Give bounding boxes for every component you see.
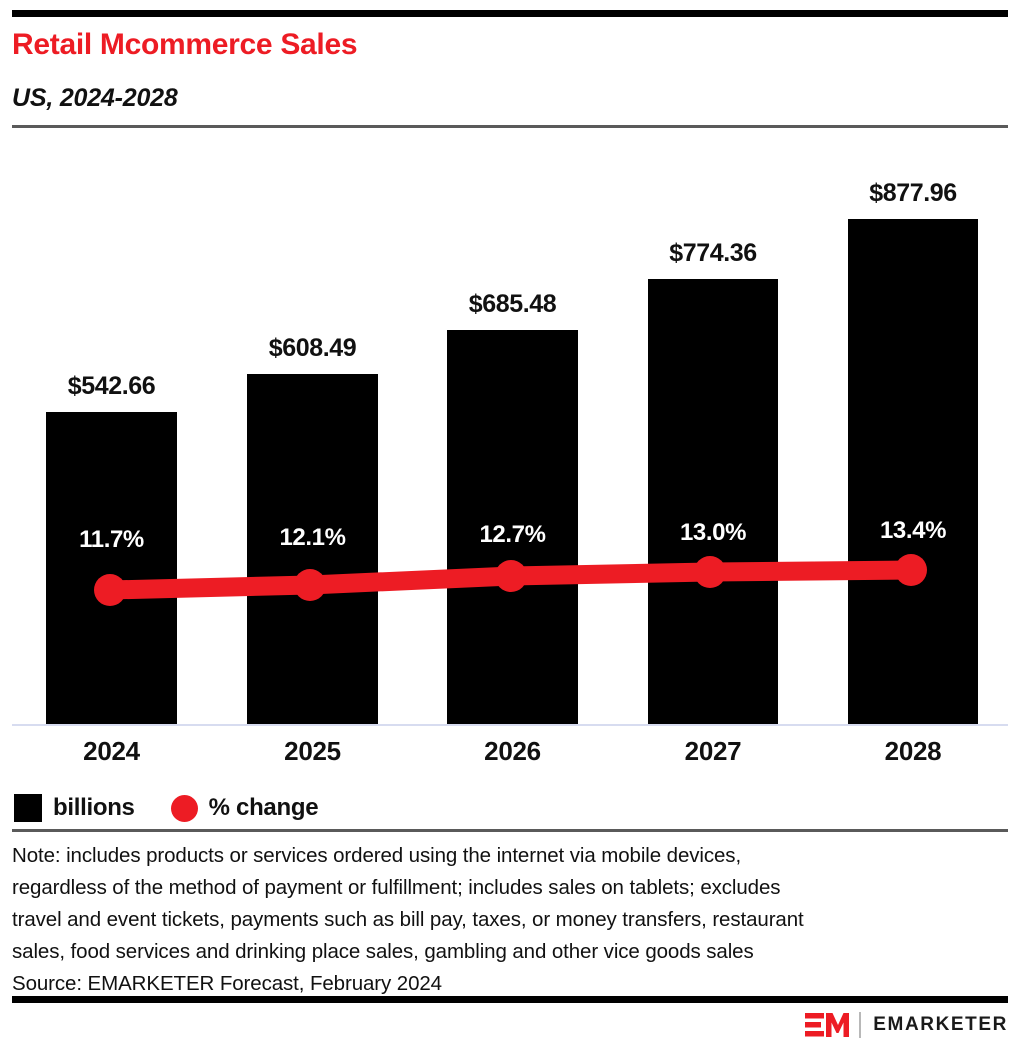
brand-divider (859, 1012, 861, 1038)
page-subtitle: US, 2024-2028 (12, 82, 992, 114)
legend-item-billions: billions (14, 794, 135, 822)
brand-name: EMARKETER (873, 1014, 1008, 1036)
line-marker-2025 (294, 569, 326, 601)
em-logo-icon (805, 1012, 849, 1038)
chart-page: Retail Mcommerce Sales US, 2024-2028 $54… (0, 0, 1020, 1048)
page-title: Retail Mcommerce Sales (12, 26, 992, 64)
black-square-icon (14, 794, 42, 822)
brand-lockup: EMARKETER (805, 1011, 1008, 1039)
top-rule (12, 10, 1008, 17)
x-tick-2026: 2026 (437, 736, 588, 767)
x-tick-2025: 2025 (237, 736, 388, 767)
chart-notes: Note: includes products or services orde… (12, 840, 972, 1000)
line-marker-2026 (495, 560, 527, 592)
footer-rule (12, 996, 1008, 1003)
note-line-1: Note: includes products or services orde… (12, 840, 972, 872)
legend-item-percent-change: % change (171, 794, 319, 822)
line-marker-2027 (694, 556, 726, 588)
x-tick-2024: 2024 (36, 736, 187, 767)
x-tick-2028: 2028 (838, 736, 988, 767)
note-line-2: regardless of the method of payment or f… (12, 872, 972, 904)
note-line-3: travel and event tickets, payments such … (12, 904, 972, 936)
note-line-4: sales, food services and drinking place … (12, 936, 972, 968)
x-tick-2027: 2027 (638, 736, 788, 767)
line-marker-2028 (895, 554, 927, 586)
percent-change-line (0, 140, 1020, 730)
line-marker-2024 (94, 574, 126, 606)
legend-label-percent-change: % change (209, 794, 319, 822)
x-axis: 2024 2025 2026 2027 2028 (0, 736, 1020, 776)
header-divider (12, 125, 1008, 128)
red-circle-icon (171, 795, 198, 822)
legend-label-billions: billions (53, 794, 135, 822)
notes-divider (12, 829, 1008, 832)
em-logo-svg (805, 1012, 849, 1038)
chart-legend: billions % change (14, 790, 354, 826)
chart-plot-area: $542.66 $608.49 $685.48 $774.36 $877.96 … (0, 140, 1020, 730)
